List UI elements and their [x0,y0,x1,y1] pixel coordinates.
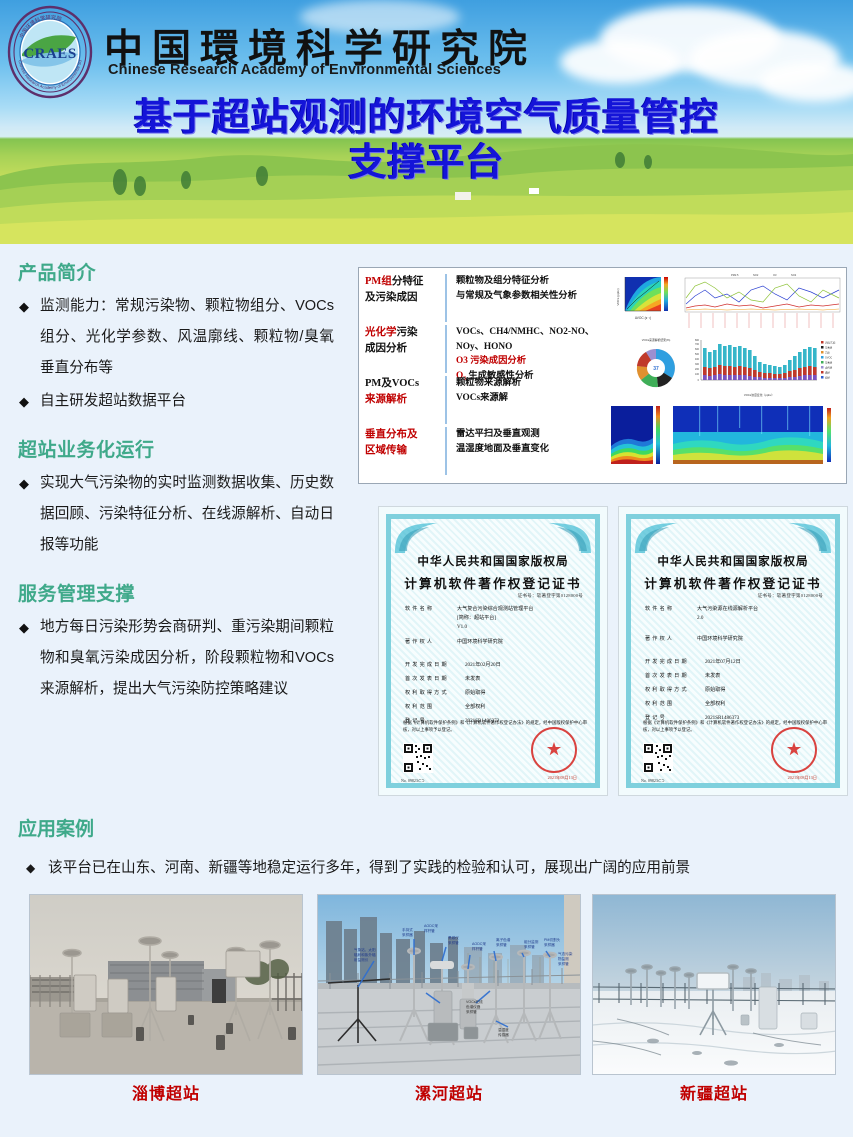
case-photo-gallery: 淄博超站 [0,894,853,1124]
diagram-category-line1: 分特征 [392,276,424,287]
photo-annotation-label: 射监测仪 [354,957,369,962]
bullet-list-product: ◆ 监测能力：常规污染物、颗粒物组分、VOCs组分、光化学参数、风温廓线、颗粒物… [0,291,352,417]
svg-text:37: 37 [653,366,659,372]
photo-annotation-label: 辐射和紫外辐 [354,952,376,957]
field-key: 软件名称 [405,605,457,632]
photo-annotation-label: 采样管 [466,1009,477,1014]
certificate-card: 中华人民共和国国家版权局 计算机软件著作权登记证书 证书号：软著登字第01280… [618,506,848,796]
craes-logo: CRAES 中国环境科学研究院 Chinese Research Academy… [6,4,94,100]
photo-zibo-illustration [30,895,303,1075]
list-item-text: 监测能力：常规污染物、颗粒物组分、VOCs组分、光化学参数、风温廓线、颗粒物/臭… [40,298,334,376]
certificate-serial: 证书号：软著登字第0128000号 [518,593,583,599]
svg-text:丙烷/乙烷: 丙烷/乙烷 [825,340,836,344]
certificate-serial-label: 证书号： [758,593,777,598]
section-service: 服务管理支撑 ◆ 地方每日污染形势会商研判、重污染期间颗粒物和臭氧污染成因分析，… [0,565,352,705]
diagram-desc-line: O3 污染成因分析 [456,354,611,369]
list-item: ◆ 该平台已在山东、河南、新疆等地稳定运行多年，得到了实践的检验和认可，展现出广… [8,855,833,881]
section-product: 产品简介 ◆ 监测能力：常规污染物、颗粒物组分、VOCs组分、光化学参数、风温廓… [0,244,352,417]
photo-luohe-station[interactable]: 气象站、太阳 辐射和紫外辐 射监测仪 手持式 采样器 AODC采 样杆管 黑碳仪… [317,894,581,1075]
certificate-field: 软件名称大气复合污染综合观测站管理平台 [简称：超站平台] V1.0 [405,605,589,632]
photo-caption-luohe: 漯河超站 [317,1080,581,1104]
list-item: ◆ 监测能力：常规污染物、颗粒物组分、VOCs组分、光化学参数、风温廓线、颗粒物… [6,291,334,384]
diagram-charts-area: AVOC (s⁻¹) VOCs (ppbv) PM2.5NO2 O3SO2 [611,268,846,483]
svg-text:CRAES: CRAES [23,46,76,62]
lidar-time-height-chart [669,402,845,476]
svg-text:300: 300 [695,363,700,366]
diagram-desc-line: 颗粒物及组分特征分析 [456,274,611,289]
official-seal-icon: ★ [531,727,577,773]
certificate-field: 权利范围全部权利 [405,703,589,712]
section-title-service: 服务管理支撑 [18,579,352,606]
page-title: 基于超站观测的环境空气质量管控 支撑平台 [0,96,853,186]
section-application-cases: 应用案例 ◆ 该平台已在山东、河南、新疆等地稳定运行多年，得到了实践的检验和认可… [0,814,853,881]
o3-isopleth-contour-chart: AVOC (s⁻¹) VOCs (ppbv) [613,273,673,325]
diamond-bullet-icon: ◆ [19,612,29,643]
svg-text:400: 400 [695,358,700,361]
photo-caption-xinjiang: 新疆超站 [592,1080,836,1104]
capability-diagram-panel: PM组分特征 及污染成因 颗粒物及组分特征分析 与常规及气象参数相关性分析 光化… [358,267,847,484]
diamond-bullet-icon: ◆ [26,855,35,881]
diamond-bullet-icon: ◆ [19,291,29,322]
official-seal-icon: ★ [771,727,817,773]
svg-text:乙炔: 乙炔 [825,350,830,354]
field-key: 权利范围 [405,703,465,712]
diagram-category-line2: 区域传输 [365,445,407,456]
certificate-title: 计算机软件著作权登记证书 [379,573,607,592]
diagram-description: 颗粒物及组分特征分析 与常规及气象参数相关性分析 [447,274,611,322]
diagram-category-line1-red: 光化学 [365,327,397,338]
field-value: 未发表 [705,672,829,681]
certificate-date: 2021年08月13日 [548,775,577,781]
diagram-row-photochemical: 光化学污染 成因分析 VOCs、CH4/NMHC、NO2-NO、NOy、HONO… [365,325,611,373]
certificate-serial: 证书号：软著登字第0128000号 [758,593,823,599]
ornament-corner-icon [393,521,439,555]
seal-star-icon: ★ [546,743,561,758]
certificate-card: 中华人民共和国国家版权局 计算机软件著作权登记证书 证书号：软著登字第01280… [378,506,608,796]
field-value: 大气污染源在线源解析平台 2.0 [697,605,829,623]
certificate-fields: 软件名称大气复合污染综合观测站管理平台 [简称：超站平台] V1.0 著作权人中… [405,605,589,729]
photo-annotation-label: 色谱仪器 [466,1004,481,1009]
field-key: 开发完成日期 [645,658,705,667]
field-value: 中国环境科学研究院 [697,635,829,644]
photo-annotation-label: 气态污染 [558,951,573,956]
list-item-text: 地方每日污染形势会商研判、重污染期间颗粒物和臭氧污染成因分析，阶段颗粒物和VOC… [40,619,334,697]
section-title-product: 产品简介 [18,258,352,285]
certificate-issuer: 中华人民共和国国家版权局 [619,553,847,569]
photo-annotation-label: 采样管 [524,944,535,949]
diagram-category-line1-red: PM组 [365,276,392,287]
diagram-category-line2: 及污染成因 [365,292,418,303]
photo-luohe-illustration: 气象站、太阳 辐射和紫外辐 射监测仪 手持式 采样器 AODC采 样杆管 黑碳仪… [318,895,581,1075]
field-value: 2021年02月20日 [465,661,589,670]
svg-text:烷烃: 烷烃 [825,375,830,379]
field-value: 大气复合污染综合观测站管理平台 [简称：超站平台] V1.0 [457,605,589,632]
svg-text:卤代烃: 卤代烃 [825,365,833,369]
diagram-category-label: 光化学污染 成因分析 [365,325,447,373]
photo-annotation-label: 采样管 [558,961,569,966]
header-banner: CRAES 中国环境科学研究院 Chinese Research Academy… [0,0,853,244]
svg-text:烯烃: 烯烃 [825,370,830,374]
svg-text:NO2: NO2 [753,273,759,277]
diamond-bullet-icon: ◆ [19,386,29,417]
certificate-field: 著作权人中国环境科学研究院 [405,638,589,647]
list-item-text: 实现大气污染物的实时监测数据收集、历史数据回顾、污染特征分析、在线源解析、自动日… [40,475,334,553]
certificate-fields: 软件名称大气污染源在线源解析平台 2.0 著作权人中国环境科学研究院 开发完成日… [645,605,829,726]
field-key: 著作权人 [405,638,457,647]
list-item-text: 自主研发超站数据平台 [40,393,186,409]
certificate-field: 著作权人中国环境科学研究院 [645,635,829,644]
ornament-corner-icon [633,521,679,555]
photo-annotation-label: 采样管 [496,942,507,947]
photo-annotation-label: 黑碳仪 [448,935,459,940]
photo-annotation-label: 气象站、太阳 [354,947,376,952]
photo-xinjiang-illustration [593,895,836,1075]
page-title-line-1: 基于超站观测的环境空气质量管控 [0,96,853,141]
svg-text:芳香烃: 芳香烃 [825,360,833,364]
photo-annotation-label: 手持式 [402,927,413,932]
photo-annotation-label: 采样器 [402,932,413,937]
photo-annotation-label: 温湿度 [498,1027,509,1032]
field-key: 著作权人 [645,635,697,644]
bullet-list-service: ◆ 地方每日污染形势会商研判、重污染期间颗粒物和臭氧污染成因分析，阶段颗粒物和V… [0,612,352,705]
certificate-field: 权利取得方式原始取得 [645,686,829,695]
photo-annotation-label: 离子色谱 [496,937,511,942]
photo-annotation-label: 传感器 [498,1032,509,1037]
certificate-issuer: 中华人民共和国国家版权局 [379,553,607,569]
copyright-certificates: 中华人民共和国国家版权局 计算机软件著作权登记证书 证书号：软著登字第01280… [378,506,848,796]
certificate-date: 2021年08月13日 [788,775,817,781]
org-name-en: Chinese Research Academy of Environmenta… [108,62,501,78]
ornament-corner-icon [787,521,833,555]
diagram-category-line2: 来源解析 [365,394,407,405]
certificate-field: 开发完成日期2021年02月20日 [405,661,589,670]
list-item: ◆ 实现大气污染物的实时监测数据收集、历史数据回顾、污染特征分析、在线源解析、自… [6,468,334,561]
svg-text:VOCs (ppbv): VOCs (ppbv) [616,288,620,305]
certificate-field: 权利取得方式原始取得 [405,689,589,698]
diagram-row-pm-composition: PM组分特征 及污染成因 颗粒物及组分特征分析 与常规及气象参数相关性分析 [365,274,611,322]
photo-annotation-label: AODC采 [424,923,438,928]
seal-star-icon: ★ [786,743,801,758]
voc-source-pie-chart: VOCs来源解析结果(%) 37 [627,336,685,396]
diagram-category-line1-red: 垂直分布及 [365,429,418,440]
svg-text:OVOC: OVOC [825,356,832,359]
svg-text:600: 600 [695,348,700,351]
svg-text:700: 700 [695,343,700,346]
certificate-serial-value: 软著登字第0128000号 [537,593,583,598]
field-key: 权利取得方式 [405,689,465,698]
certificate-field: 软件名称大气污染源在线源解析平台 2.0 [645,605,829,623]
field-value: 原始取得 [465,689,589,698]
photo-annotation-label: 样杆管 [424,928,435,933]
section-title-cases: 应用案例 [18,814,853,841]
ornament-corner-icon [547,521,593,555]
certificate-serial-value: 软著登字第0128000号 [777,593,823,598]
page-title-line-2: 支撑平台 [0,141,853,186]
qr-code-icon [403,743,433,773]
photo-annotation-label: AODC采 [472,941,486,946]
diagram-category-line2: 成因分析 [365,343,407,354]
diagram-category-line1: PM及VOCs [365,378,419,389]
svg-text:100: 100 [695,373,700,376]
field-key: 开发完成日期 [405,661,465,670]
pollutant-timeseries-line-chart: PM2.5NO2 O3SO2 [675,272,845,330]
diagram-category-label: PM及VOCs 来源解析 [365,376,447,424]
svg-text:AVOC (s⁻¹): AVOC (s⁻¹) [635,316,651,320]
certificate-reg-no: No. 09823⊂⊃ [401,778,425,783]
photo-annotation-label: 组分监测 [524,939,539,944]
svg-text:0: 0 [698,379,700,382]
left-column: 产品简介 ◆ 监测能力：常规污染物、颗粒物组分、VOCs组分、光化学参数、风温廓… [0,244,352,709]
diagram-category-line1: 污染 [397,327,418,338]
bullet-list-operations: ◆ 实现大气污染物的实时监测数据收集、历史数据回顾、污染特征分析、在线源解析、自… [0,468,352,561]
photo-annotation-label: 物监测 [558,956,569,961]
certificate-reg-no: No. 09823⊂⊃ [641,778,665,783]
field-key: 权利取得方式 [645,686,705,695]
field-value: 全部权利 [465,703,589,712]
svg-text:VOCs浓度变化（ppbv）: VOCs浓度变化（ppbv） [744,393,774,397]
cloud-shape [560,40,680,84]
diagram-desc-line: 与常规及气象参数相关性分析 [456,289,611,304]
certificate-field: 首次发表日期未发表 [645,672,829,681]
diagram-desc-formula: VOCs、CH4/NMHC、NO2-NO、NOy、HONO [456,325,611,354]
voc-stacked-bar-chart: 0100200 300400500 600700800 [685,334,847,398]
photo-xinjiang-station[interactable] [592,894,836,1075]
svg-text:800: 800 [695,339,700,342]
certificate-field: 权利范围全部权利 [645,700,829,709]
svg-text:500: 500 [695,353,700,356]
photo-zibo-station[interactable] [29,894,303,1075]
field-value: 未发表 [465,675,589,684]
diagram-desc-line: 颗粒物来源解析 [456,376,611,391]
photo-annotation-label: VOCs在线 [466,999,483,1004]
field-key: 首次发表日期 [645,672,705,681]
certificate-field: 首次发表日期未发表 [405,675,589,684]
list-item-text: 该平台已在山东、河南、新疆等地稳定运行多年，得到了实践的检验和认可，展现出广阔的… [48,860,690,876]
lidar-vertical-profile-chart [557,402,665,476]
list-item: ◆ 自主研发超站数据平台 [6,386,334,417]
svg-text:PM2.5: PM2.5 [731,273,739,277]
svg-text:芳香烃: 芳香烃 [825,345,833,349]
certificate-title: 计算机软件著作权登记证书 [619,573,847,592]
photo-caption-zibo: 淄博超站 [29,1080,303,1104]
diamond-bullet-icon: ◆ [19,468,29,499]
field-value: 全部权利 [705,700,829,709]
list-item: ◆ 地方每日污染形势会商研判、重污染期间颗粒物和臭氧污染成因分析，阶段颗粒物和V… [6,612,334,705]
section-operations: 超站业务化运行 ◆ 实现大气污染物的实时监测数据收集、历史数据回顾、污染特征分析… [0,421,352,561]
field-key: 首次发表日期 [405,675,465,684]
svg-text:200: 200 [695,368,700,371]
certificate-serial-label: 证书号： [518,593,537,598]
diagram-category-label: PM组分特征 及污染成因 [365,274,447,322]
svg-text:SO2: SO2 [791,273,797,277]
field-key: 软件名称 [645,605,697,623]
photo-annotation-label: PM切割头 [544,937,561,942]
photo-annotation-label: 采样器 [544,942,555,947]
field-key: 权利范围 [645,700,705,709]
svg-text:VOCs来源解析结果(%): VOCs来源解析结果(%) [642,338,671,342]
certificate-field: 开发完成日期2021年07月12日 [645,658,829,667]
section-title-operations: 超站业务化运行 [18,435,352,462]
svg-text:O3: O3 [773,273,777,277]
poster-body: 产品简介 ◆ 监测能力：常规污染物、颗粒物组分、VOCs组分、光化学参数、风温廓… [0,244,853,1137]
field-value: 中国环境科学研究院 [457,638,589,647]
field-value: 原始取得 [705,686,829,695]
qr-code-icon [643,743,673,773]
photo-annotation-label: 样杆管 [472,946,483,951]
photo-annotation-label: 采样管 [448,940,459,945]
diagram-description: VOCs、CH4/NMHC、NO2-NO、NOy、HONO O3 污染成因分析 … [447,325,611,373]
diagram-category-label: 垂直分布及 区域传输 [365,427,447,475]
field-value: 2021年07月12日 [705,658,829,667]
